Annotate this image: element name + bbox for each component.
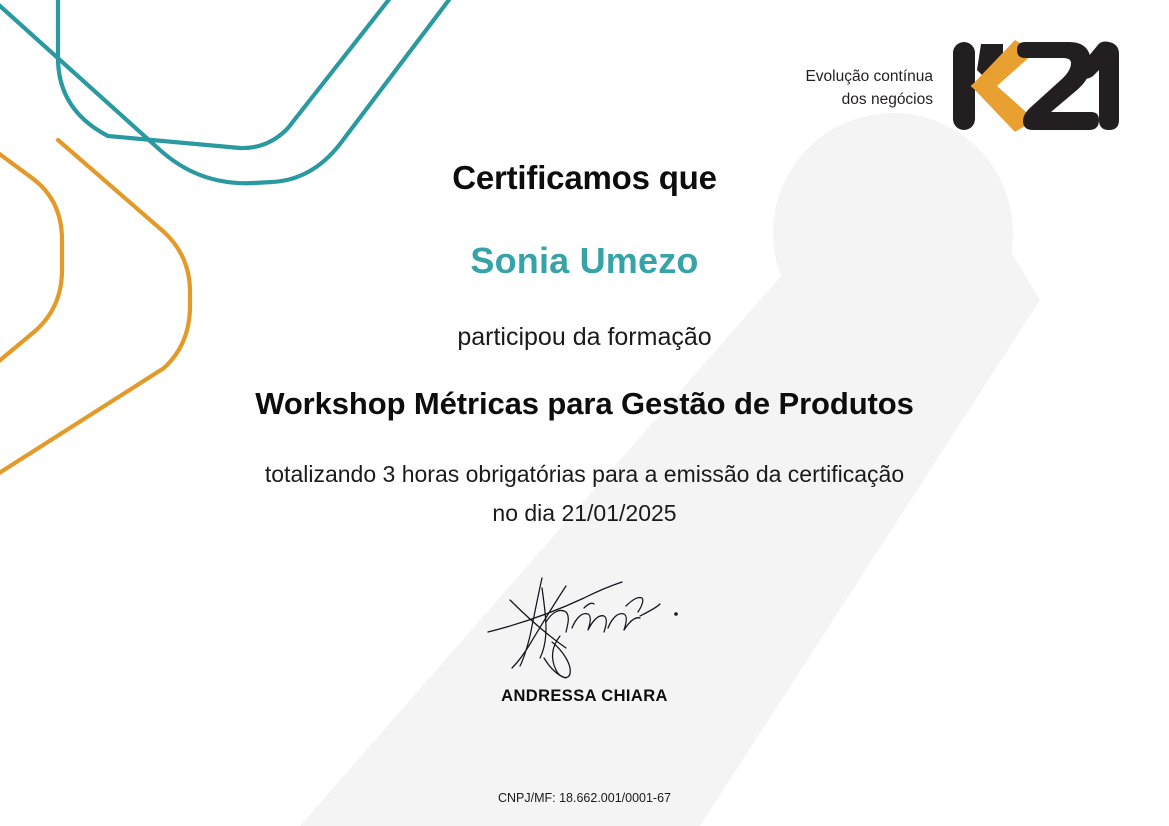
brand-tagline: Evolução contínua dos negócios xyxy=(805,66,933,111)
teal-chevron-outline-pair xyxy=(0,0,470,183)
brand-logo-block: Evolução contínua dos negócios xyxy=(805,36,1129,141)
participation-label: participou da formação xyxy=(0,323,1169,352)
certificate-page: Evolução contínua dos negócios Certifica… xyxy=(0,0,1169,826)
signature-area: ANDRESSA CHIARA xyxy=(0,566,1169,706)
date-line: no dia 21/01/2025 xyxy=(0,500,1169,527)
signer-name: ANDRESSA CHIARA xyxy=(0,687,1169,706)
hours-line: totalizando 3 horas obrigatórias para a … xyxy=(0,461,1169,488)
footer-cnpj: CNPJ/MF: 18.662.001/0001-67 xyxy=(0,791,1169,805)
recipient-name: Sonia Umezo xyxy=(0,240,1169,282)
intro-line: Certificamos que xyxy=(0,159,1169,197)
brand-tagline-line1: Evolução contínua xyxy=(805,66,933,88)
brand-tagline-line2: dos negócios xyxy=(805,89,933,111)
k21-logo xyxy=(951,36,1129,141)
handwritten-signature-chiara xyxy=(0,566,1169,681)
course-title: Workshop Métricas para Gestão de Produto… xyxy=(0,386,1169,422)
